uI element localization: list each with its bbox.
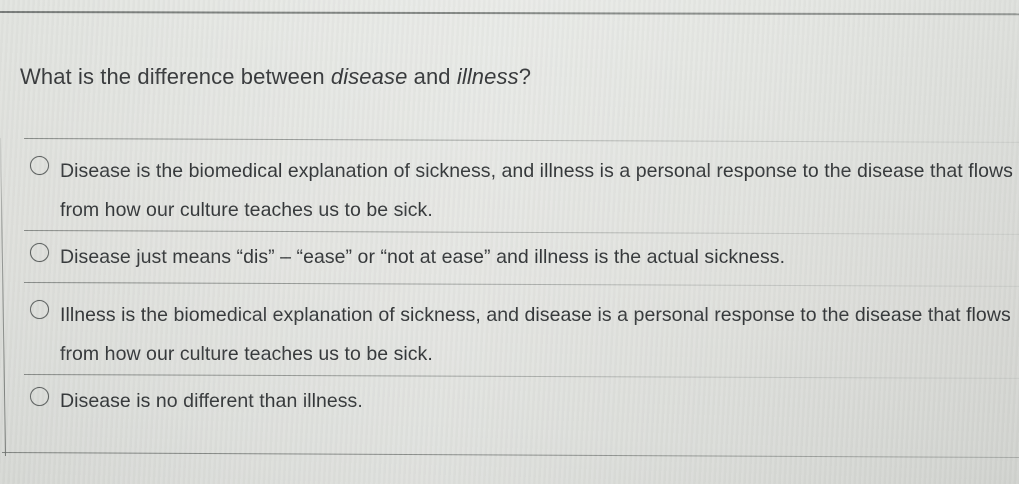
option-separator: [24, 374, 1019, 379]
radio-button-a[interactable]: [30, 156, 49, 175]
radio-button-b[interactable]: [30, 243, 49, 262]
page-title: What is the difference between disease a…: [20, 63, 980, 91]
question-text-lead: What is the difference between: [20, 64, 331, 89]
answer-option-d-label: Disease is no different than illness.: [60, 386, 1015, 416]
option-separator: [24, 230, 1019, 235]
quiz-question-screen: What is the difference between disease a…: [0, 0, 1019, 484]
answer-option-d[interactable]: Disease is no different than illness.: [0, 374, 1019, 434]
radio-button-d[interactable]: [30, 387, 49, 406]
question-term-disease: disease: [331, 64, 408, 89]
answers-bottom-border: [2, 452, 1019, 458]
question-term-illness: illness: [457, 64, 519, 89]
question-text-trailing: ?: [519, 64, 531, 89]
question-text-conjunction: and: [407, 64, 456, 89]
answer-option-c[interactable]: Illness is the biomedical explanation of…: [0, 282, 1019, 374]
option-separator: [24, 282, 1019, 287]
answer-options-list: Disease is the biomedical explanation of…: [0, 136, 1019, 456]
answer-option-a-label: Disease is the biomedical explanation of…: [60, 152, 1015, 230]
answer-option-a[interactable]: Disease is the biomedical explanation of…: [0, 138, 1019, 230]
top-divider: [0, 11, 1019, 15]
radio-button-c[interactable]: [30, 300, 49, 319]
answer-option-c-label: Illness is the biomedical explanation of…: [60, 296, 1015, 374]
option-separator: [24, 138, 1019, 143]
answer-option-b-label: Disease just means “dis” – “ease” or “no…: [60, 242, 1015, 272]
answer-option-b[interactable]: Disease just means “dis” – “ease” or “no…: [0, 230, 1019, 282]
